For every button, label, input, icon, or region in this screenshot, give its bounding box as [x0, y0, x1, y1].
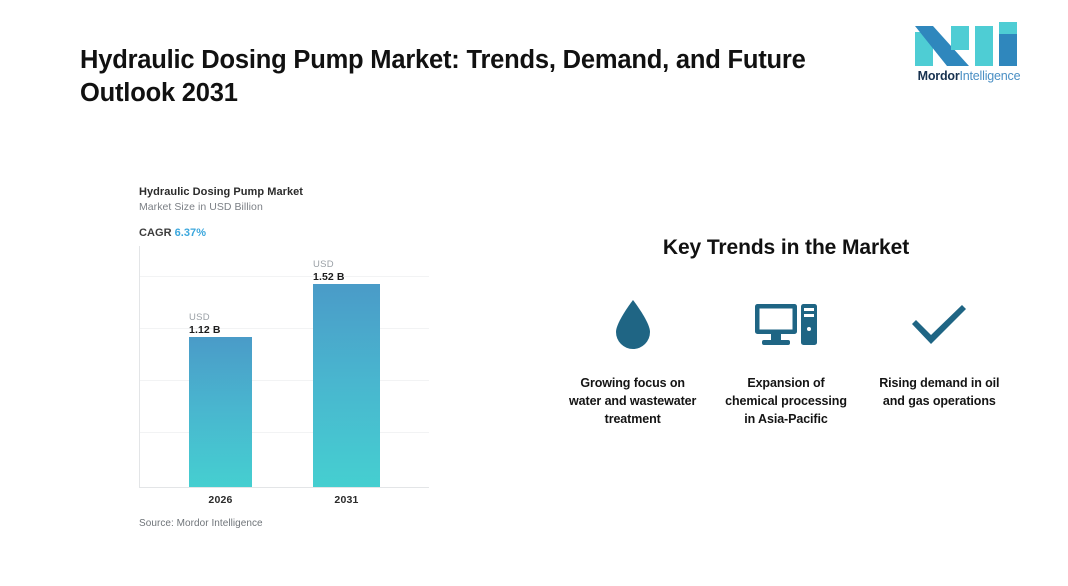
checkmark-glyph: [908, 302, 970, 348]
chart-subtitle: Market Size in USD Billion: [139, 201, 439, 213]
bar-2031: [313, 284, 380, 487]
trend-caption-chemical-processing: Expansion of chemical processing in Asia…: [720, 374, 852, 428]
chart-plot-area: USD 1.12 B USD 1.52 B 2026 2031: [139, 246, 429, 488]
bar-label-2026: USD 1.12 B: [189, 312, 221, 337]
bar-label-2031: USD 1.52 B: [313, 259, 345, 284]
cagr-value: 6.37%: [175, 227, 206, 239]
trend-item-chemical-processing: Expansion of chemical processing in Asia…: [709, 298, 862, 428]
market-size-chart: Hydraulic Dosing Pump Market Market Size…: [139, 186, 439, 536]
gridline: [140, 380, 429, 381]
chart-source: Source: Mordor Intelligence: [139, 518, 263, 529]
key-trends-heading: Key Trends in the Market: [556, 236, 1016, 260]
logo-wordmark: MordorIntelligence: [913, 70, 1025, 83]
key-trends-row: Growing focus on water and wastewater tr…: [556, 298, 1016, 428]
trend-item-oil-and-gas: Rising demand in oil and gas operations: [863, 298, 1016, 428]
mordor-intelligence-logo: MordorIntelligence: [913, 20, 1025, 92]
gridline: [140, 328, 429, 329]
bar-unit-2026: USD: [189, 312, 221, 324]
gridline: [140, 432, 429, 433]
bar-value-2026: 1.12 B: [189, 324, 221, 337]
cagr-label: CAGR: [139, 227, 172, 239]
x-tick-2031: 2031: [313, 494, 380, 506]
desktop-computer-glyph: [754, 302, 818, 348]
bar-value-2031: 1.52 B: [313, 271, 345, 284]
trend-caption-oil-and-gas: Rising demand in oil and gas operations: [873, 374, 1005, 410]
desktop-computer-icon: [754, 298, 818, 352]
water-droplet-glyph: [612, 298, 654, 352]
cagr-row: CAGR6.37%: [139, 227, 439, 239]
bar-2026: [189, 337, 252, 487]
water-droplet-icon: [612, 298, 654, 352]
page-title: Hydraulic Dosing Pump Market: Trends, De…: [80, 44, 880, 110]
trend-caption-water-treatment: Growing focus on water and wastewater tr…: [567, 374, 699, 428]
trend-item-water-treatment: Growing focus on water and wastewater tr…: [556, 298, 709, 428]
chart-title: Hydraulic Dosing Pump Market: [139, 186, 439, 198]
logo-mark-icon: [913, 20, 1025, 68]
gridline: [140, 276, 429, 277]
checkmark-icon: [908, 298, 970, 352]
bar-unit-2031: USD: [313, 259, 345, 271]
logo-word-intelligence: Intelligence: [960, 69, 1021, 83]
logo-word-mordor: Mordor: [918, 69, 960, 83]
key-trends-panel: Key Trends in the Market Growing focus o…: [556, 236, 1016, 428]
x-tick-2026: 2026: [189, 494, 252, 506]
